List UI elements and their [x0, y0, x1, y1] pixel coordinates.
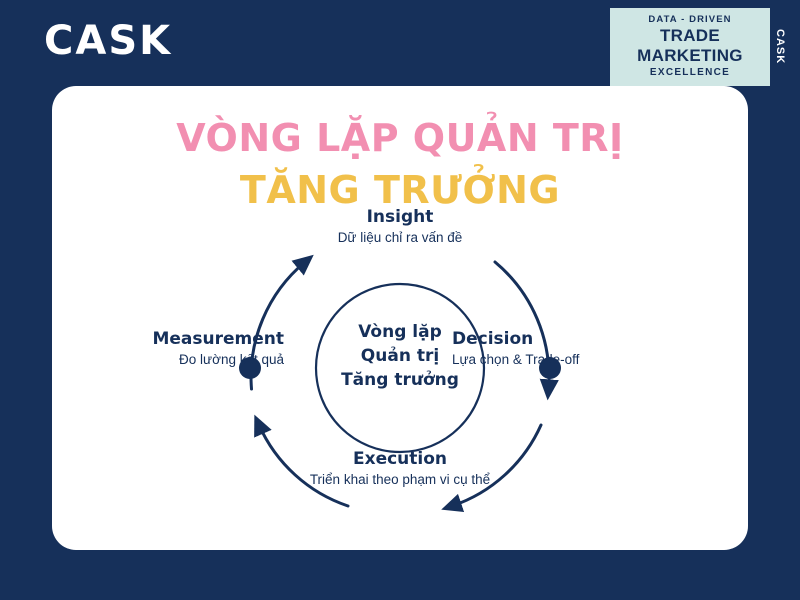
badge-line-excellence: EXCELLENCE	[620, 66, 760, 79]
badge-line-data-driven: DATA - DRIVEN	[620, 14, 760, 26]
node-insight-subtitle: Dữ liệu chỉ ra vấn đề	[280, 228, 520, 248]
node-measurement: Measurement Đo lường kết quả	[66, 328, 284, 370]
content-card: VÒNG LẶP QUẢN TRỊ TĂNG TRƯỞNG Vòng lặp Q…	[52, 86, 748, 550]
badge-line-trade-marketing: TRADE MARKETING	[620, 26, 760, 66]
growth-loop-diagram: Vòng lặp Quản trị Tăng trưởng Insight Dữ…	[52, 198, 748, 548]
node-insight-title: Insight	[280, 206, 520, 228]
node-execution: Execution Triển khai theo phạm vi cụ thể	[242, 448, 558, 490]
brand-logo: CASK	[44, 18, 172, 64]
trade-marketing-badge: DATA - DRIVEN TRADE MARKETING EXCELLENCE…	[610, 8, 786, 86]
node-decision: Decision Lựa chọn & Trade-off	[452, 328, 692, 370]
node-measurement-title: Measurement	[66, 328, 284, 350]
node-execution-subtitle: Triển khai theo phạm vi cụ thể	[242, 470, 558, 490]
center-label-line-3: Tăng trưởng	[320, 368, 480, 392]
page-title-line-1: VÒNG LẶP QUẢN TRỊ	[52, 112, 748, 164]
node-insight: Insight Dữ liệu chỉ ra vấn đề	[280, 206, 520, 248]
badge-side-label: CASK	[770, 8, 786, 86]
node-decision-title: Decision	[452, 328, 692, 350]
node-measurement-subtitle: Đo lường kết quả	[66, 350, 284, 370]
node-execution-title: Execution	[242, 448, 558, 470]
badge-box: DATA - DRIVEN TRADE MARKETING EXCELLENCE	[610, 8, 770, 86]
node-decision-subtitle: Lựa chọn & Trade-off	[452, 350, 692, 370]
